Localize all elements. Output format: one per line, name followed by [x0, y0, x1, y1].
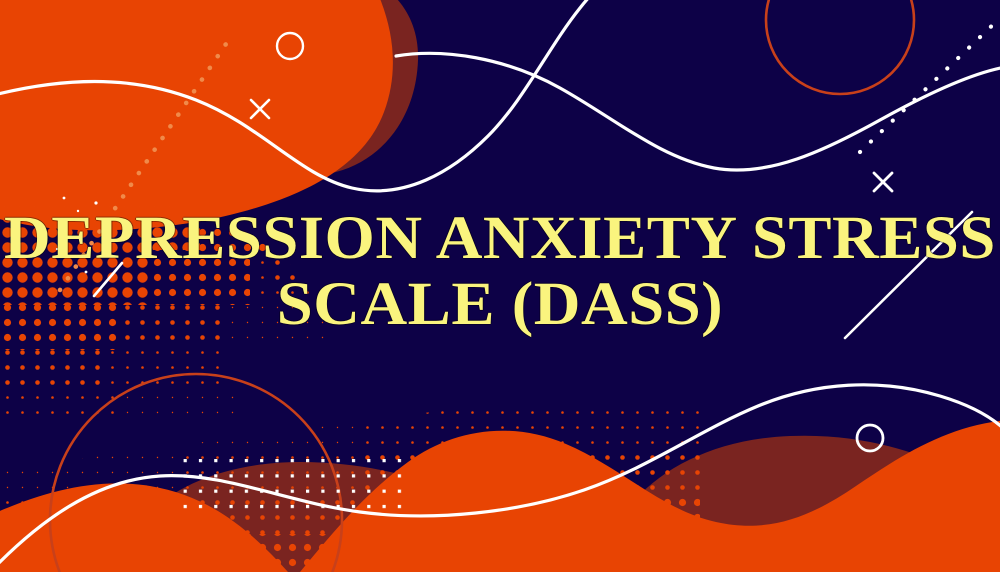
white-dot-grid [174, 458, 410, 520]
background-artwork [0, 0, 1000, 572]
slide-canvas: DEPRESSION ANXIETY STRESS SCALE (DASS) [0, 0, 1000, 572]
